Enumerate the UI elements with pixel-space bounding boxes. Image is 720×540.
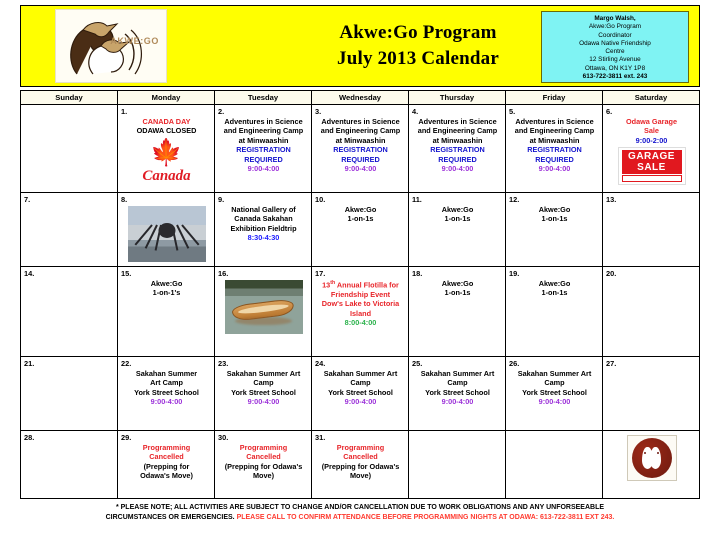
calendar-day-cell-11[interactable]: 11.Akwe:Go1-on-1s: [409, 193, 506, 267]
weekday-header-row: SundayMondayTuesdayWednesdayThursdayFrid…: [21, 91, 700, 105]
event-line: Akwe:Go: [315, 205, 406, 214]
event-line: Friendship Event: [315, 290, 406, 299]
event-line: Cancelled: [121, 452, 212, 461]
day-number: 1.: [121, 107, 212, 116]
event-line: York Street School: [412, 388, 503, 397]
day-number: 13.: [606, 195, 697, 204]
event-line: 13th Annual Flotilla for: [315, 279, 406, 290]
day-number: 31.: [315, 433, 406, 442]
calendar-day-cell-1[interactable]: 1.CANADA DAYODAWA CLOSED🍁Canada: [118, 105, 215, 193]
event-line: REQUIRED: [412, 155, 503, 164]
event-line: York Street School: [218, 388, 309, 397]
event-line: Akwe:Go: [412, 205, 503, 214]
event-line: Sakahan Summer Art: [412, 369, 503, 378]
day-number: 12.: [509, 195, 600, 204]
day-number: 27.: [606, 359, 697, 368]
day-events: Akwe:Go1-on-1s: [412, 279, 503, 298]
calendar-day-cell-24[interactable]: 24.Sakahan Summer ArtCampYork Street Sch…: [312, 357, 409, 431]
day-events: Odawa GarageSale9:00-2:00: [606, 117, 697, 145]
event-line: Camp: [218, 378, 309, 387]
day-events: Sakahan Summer ArtCampYork Street School…: [315, 369, 406, 407]
footer-line-2-red: PLEASE CALL TO CONFIRM ATTENDANCE BEFORE…: [237, 514, 615, 521]
contact-org-1: Odawa Native Friendship: [544, 40, 686, 48]
odawa-logo-icon: [627, 435, 677, 481]
canoe-photo: [225, 280, 303, 334]
event-line: National Gallery of: [218, 205, 309, 214]
day-events: Akwe:Go1-on-1s: [509, 205, 600, 224]
day-events: Akwe:Go1-on-1s: [315, 205, 406, 224]
event-line: 9:00-4:00: [509, 164, 600, 173]
calendar-day-cell-19[interactable]: 19.Akwe:Go1-on-1s: [506, 267, 603, 357]
day-number: 20.: [606, 269, 697, 278]
event-line: Dow's Lake to Victoria: [315, 299, 406, 308]
event-line: and Engineering Camp: [412, 126, 503, 135]
event-line: 9:00-4:00: [509, 397, 600, 406]
event-line: Akwe:Go: [509, 279, 600, 288]
event-line: 8:30-4:30: [218, 233, 309, 242]
event-line: Akwe:Go: [121, 279, 212, 288]
event-line: Canada Sakahan: [218, 214, 309, 223]
day-events: Sakahan Summer ArtCampYork Street School…: [509, 369, 600, 407]
event-line: Adventures in Science: [509, 117, 600, 126]
event-line: Cancelled: [315, 452, 406, 461]
weekday-header-wednesday: Wednesday: [312, 91, 409, 105]
event-line: CANADA DAY: [121, 117, 212, 126]
event-line: Adventures in Science: [315, 117, 406, 126]
day-number: 28.: [24, 433, 115, 442]
event-line: 8:00-4:00: [315, 318, 406, 327]
day-events: ProgrammingCancelled(Prepping forOdawa's…: [121, 443, 212, 481]
calendar-week-row: 14.15.Akwe:Go1-on-1's16.17.13th Annual F…: [21, 267, 700, 357]
day-number: 14.: [24, 269, 115, 278]
calendar-day-cell-28[interactable]: 28.: [21, 431, 118, 499]
day-number: 26.: [509, 359, 600, 368]
event-line: Odawa Garage: [606, 117, 697, 126]
day-events: CANADA DAYODAWA CLOSED: [121, 117, 212, 136]
event-line: Art Camp: [121, 378, 212, 387]
event-line: York Street School: [509, 388, 600, 397]
event-line: Adventures in Science: [412, 117, 503, 126]
calendar-day-cell-17[interactable]: 17.13th Annual Flotilla forFriendship Ev…: [312, 267, 409, 357]
day-number: 16.: [218, 269, 309, 278]
day-number: 4.: [412, 107, 503, 116]
calendar-day-cell-empty[interactable]: [506, 431, 603, 499]
event-line: Programming: [218, 443, 309, 452]
footer-line-2: CIRCUMSTANCES OR EMERGENCIES. PLEASE CAL…: [20, 513, 700, 523]
day-number: 7.: [24, 195, 115, 204]
contact-role-2: Coordinator: [544, 32, 686, 40]
spider-sculpture-photo: [128, 206, 206, 262]
event-line: Camp: [509, 378, 600, 387]
day-number: 5.: [509, 107, 600, 116]
event-line: Move): [315, 471, 406, 480]
calendar-day-cell-empty[interactable]: [21, 105, 118, 193]
calendar-day-cell-16[interactable]: 16.: [215, 267, 312, 357]
day-events: Sakahan SummerArt CampYork Street School…: [121, 369, 212, 407]
event-line: York Street School: [121, 388, 212, 397]
event-line: Akwe:Go: [509, 205, 600, 214]
weekday-header-monday: Monday: [118, 91, 215, 105]
event-line: 1-on-1s: [315, 214, 406, 223]
day-number: 11.: [412, 195, 503, 204]
day-events: National Gallery ofCanada SakahanExhibit…: [218, 205, 309, 243]
event-line: 1-on-1s: [412, 288, 503, 297]
event-line: Move): [218, 471, 309, 480]
event-line: Sale: [606, 126, 697, 135]
event-line: and Engineering Camp: [218, 126, 309, 135]
day-events: Sakahan Summer ArtCampYork Street School…: [412, 369, 503, 407]
event-line: Sakahan Summer Art: [315, 369, 406, 378]
calendar-day-cell-empty[interactable]: [409, 431, 506, 499]
calendar-day-cell-20[interactable]: 20.: [603, 267, 700, 357]
event-line: 9:00-2:00: [606, 136, 697, 145]
day-number: 30.: [218, 433, 309, 442]
day-events: Adventures in Scienceand Engineering Cam…: [509, 117, 600, 173]
event-line: at Minwaashin: [315, 136, 406, 145]
event-line: Programming: [315, 443, 406, 452]
day-number: 19.: [509, 269, 600, 278]
event-line: Exhibition Fieldtrip: [218, 224, 309, 233]
event-line: 9:00-4:00: [218, 164, 309, 173]
garage-sale-sign-icon: GARAGESALE: [618, 147, 686, 185]
footer-line-2-black: CIRCUMSTANCES OR EMERGENCIES.: [106, 514, 237, 521]
calendar-day-cell-12[interactable]: 12.Akwe:Go1-on-1s: [506, 193, 603, 267]
weekday-header-friday: Friday: [506, 91, 603, 105]
calendar-day-cell-2[interactable]: 2.Adventures in Scienceand Engineering C…: [215, 105, 312, 193]
event-line: 1-on-1s: [509, 214, 600, 223]
day-events: Adventures in Scienceand Engineering Cam…: [412, 117, 503, 173]
day-events: ProgrammingCancelled(Prepping for Odawa'…: [218, 443, 309, 481]
calendar-grid: SundayMondayTuesdayWednesdayThursdayFrid…: [20, 90, 700, 499]
event-line: REGISTRATION: [315, 145, 406, 154]
event-line: 9:00-4:00: [218, 397, 309, 406]
event-line: Programming: [121, 443, 212, 452]
akwe-go-logo-text: AKWE:GO: [110, 36, 159, 46]
calendar-day-cell-empty[interactable]: [603, 431, 700, 499]
calendar-day-cell-22[interactable]: 22.Sakahan SummerArt CampYork Street Sch…: [118, 357, 215, 431]
event-line: Odawa's Move): [121, 471, 212, 480]
event-line: Sakahan Summer: [121, 369, 212, 378]
event-line: Cancelled: [218, 452, 309, 461]
day-number: 18.: [412, 269, 503, 278]
weekday-header-saturday: Saturday: [603, 91, 700, 105]
calendar-day-cell-31[interactable]: 31.ProgrammingCancelled(Prepping for Oda…: [312, 431, 409, 499]
contact-city: Ottawa, ON K1Y 1P8: [544, 65, 686, 73]
calendar-day-cell-9[interactable]: 9.National Gallery ofCanada SakahanExhib…: [215, 193, 312, 267]
day-events: Sakahan Summer ArtCampYork Street School…: [218, 369, 309, 407]
calendar-day-cell-14[interactable]: 14.: [21, 267, 118, 357]
akwe-go-logo: AKWE:GO: [55, 9, 167, 83]
calendar-header: AKWE:GO Akwe:Go Program July 2013 Calend…: [20, 5, 700, 87]
calendar-day-cell-27[interactable]: 27.: [603, 357, 700, 431]
event-line: 1-on-1s: [509, 288, 600, 297]
event-line: ODAWA CLOSED: [121, 126, 212, 135]
day-number: 8.: [121, 195, 212, 204]
day-number: 2.: [218, 107, 309, 116]
day-number: 17.: [315, 269, 406, 278]
contact-name: Margo Walsh,: [544, 15, 686, 23]
day-events: Adventures in Scienceand Engineering Cam…: [315, 117, 406, 173]
calendar-day-cell-10[interactable]: 10.Akwe:Go1-on-1s: [312, 193, 409, 267]
event-line: 9:00-4:00: [121, 397, 212, 406]
weekday-header-sunday: Sunday: [21, 91, 118, 105]
event-line: REQUIRED: [218, 155, 309, 164]
day-number: 10.: [315, 195, 406, 204]
calendar-week-row: 1.CANADA DAYODAWA CLOSED🍁Canada2.Adventu…: [21, 105, 700, 193]
event-line: York Street School: [315, 388, 406, 397]
event-line: 9:00-4:00: [412, 397, 503, 406]
day-events: Akwe:Go1-on-1s: [509, 279, 600, 298]
calendar-week-row: 21.22.Sakahan SummerArt CampYork Street …: [21, 357, 700, 431]
event-line: Adventures in Science: [218, 117, 309, 126]
day-number: 25.: [412, 359, 503, 368]
event-line: Island: [315, 309, 406, 318]
calendar-day-cell-25[interactable]: 25.Sakahan Summer ArtCampYork Street Sch…: [409, 357, 506, 431]
calendar-day-cell-29[interactable]: 29.ProgrammingCancelled(Prepping forOdaw…: [118, 431, 215, 499]
event-line: at Minwaashin: [218, 136, 309, 145]
maple-leaf-icon: 🍁Canada: [124, 138, 210, 184]
calendar-day-cell-23[interactable]: 23.Sakahan Summer ArtCampYork Street Sch…: [215, 357, 312, 431]
calendar-day-cell-30[interactable]: 30.ProgrammingCancelled(Prepping for Oda…: [215, 431, 312, 499]
event-line: (Prepping for: [121, 462, 212, 471]
day-number: 15.: [121, 269, 212, 278]
calendar-day-cell-21[interactable]: 21.: [21, 357, 118, 431]
calendar-day-cell-6[interactable]: 6.Odawa GarageSale9:00-2:00GARAGESALE: [603, 105, 700, 193]
event-line: and Engineering Camp: [315, 126, 406, 135]
day-events: ProgrammingCancelled(Prepping for Odawa'…: [315, 443, 406, 481]
event-line: REQUIRED: [315, 155, 406, 164]
calendar-week-row: 7.8.9.National Gallery ofCanada SakahanE…: [21, 193, 700, 267]
event-line: and Engineering Camp: [509, 126, 600, 135]
event-line: 1-on-1s: [412, 214, 503, 223]
day-number: 3.: [315, 107, 406, 116]
calendar-day-cell-26[interactable]: 26.Sakahan Summer ArtCampYork Street Sch…: [506, 357, 603, 431]
contact-address: 12 Stirling Avenue: [544, 56, 686, 64]
event-line: REGISTRATION: [218, 145, 309, 154]
calendar-day-cell-18[interactable]: 18.Akwe:Go1-on-1s: [409, 267, 506, 357]
day-number: 21.: [24, 359, 115, 368]
event-line: 9:00-4:00: [315, 164, 406, 173]
calendar-footer-note: * PLEASE NOTE; ALL ACTIVITIES ARE SUBJEC…: [20, 503, 700, 523]
contact-role-1: Akwe:Go Program: [544, 23, 686, 31]
event-line: (Prepping for Odawa's: [218, 462, 309, 471]
calendar-page: AKWE:GO Akwe:Go Program July 2013 Calend…: [0, 0, 720, 540]
contact-info-box: Margo Walsh, Akwe:Go Program Coordinator…: [541, 11, 689, 83]
day-number: 24.: [315, 359, 406, 368]
event-line: REQUIRED: [509, 155, 600, 164]
event-line: Sakahan Summer Art: [509, 369, 600, 378]
event-line: Sakahan Summer Art: [218, 369, 309, 378]
day-events: 13th Annual Flotilla forFriendship Event…: [315, 279, 406, 327]
event-line: 9:00-4:00: [412, 164, 503, 173]
event-line: REGISTRATION: [509, 145, 600, 154]
event-line: at Minwaashin: [412, 136, 503, 145]
calendar-week-row: 28.29.ProgrammingCancelled(Prepping forO…: [21, 431, 700, 499]
event-line: Camp: [315, 378, 406, 387]
day-number: 29.: [121, 433, 212, 442]
calendar-day-cell-8[interactable]: 8.: [118, 193, 215, 267]
event-line: 1-on-1's: [121, 288, 212, 297]
calendar-day-cell-5[interactable]: 5.Adventures in Scienceand Engineering C…: [506, 105, 603, 193]
event-line: (Prepping for Odawa's: [315, 462, 406, 471]
eagle-icon: AKWE:GO: [59, 12, 163, 80]
day-number: 9.: [218, 195, 309, 204]
calendar-day-cell-15[interactable]: 15.Akwe:Go1-on-1's: [118, 267, 215, 357]
contact-org-2: Centre: [544, 48, 686, 56]
calendar-day-cell-4[interactable]: 4.Adventures in Scienceand Engineering C…: [409, 105, 506, 193]
day-number: 23.: [218, 359, 309, 368]
event-line: Camp: [412, 378, 503, 387]
event-line: REGISTRATION: [412, 145, 503, 154]
calendar-day-cell-3[interactable]: 3.Adventures in Scienceand Engineering C…: [312, 105, 409, 193]
day-events: Akwe:Go1-on-1's: [121, 279, 212, 298]
day-number: 6.: [606, 107, 697, 116]
calendar-day-cell-7[interactable]: 7.: [21, 193, 118, 267]
calendar-day-cell-13[interactable]: 13.: [603, 193, 700, 267]
weekday-header-tuesday: Tuesday: [215, 91, 312, 105]
footer-line-1: * PLEASE NOTE; ALL ACTIVITIES ARE SUBJEC…: [20, 503, 700, 513]
event-line: Akwe:Go: [412, 279, 503, 288]
day-number: 22.: [121, 359, 212, 368]
day-events: Akwe:Go1-on-1s: [412, 205, 503, 224]
day-events: Adventures in Scienceand Engineering Cam…: [218, 117, 309, 173]
event-line: 9:00-4:00: [315, 397, 406, 406]
event-line: at Minwaashin: [509, 136, 600, 145]
weekday-header-thursday: Thursday: [409, 91, 506, 105]
contact-phone: 613-722-3811 ext. 243: [544, 73, 686, 81]
